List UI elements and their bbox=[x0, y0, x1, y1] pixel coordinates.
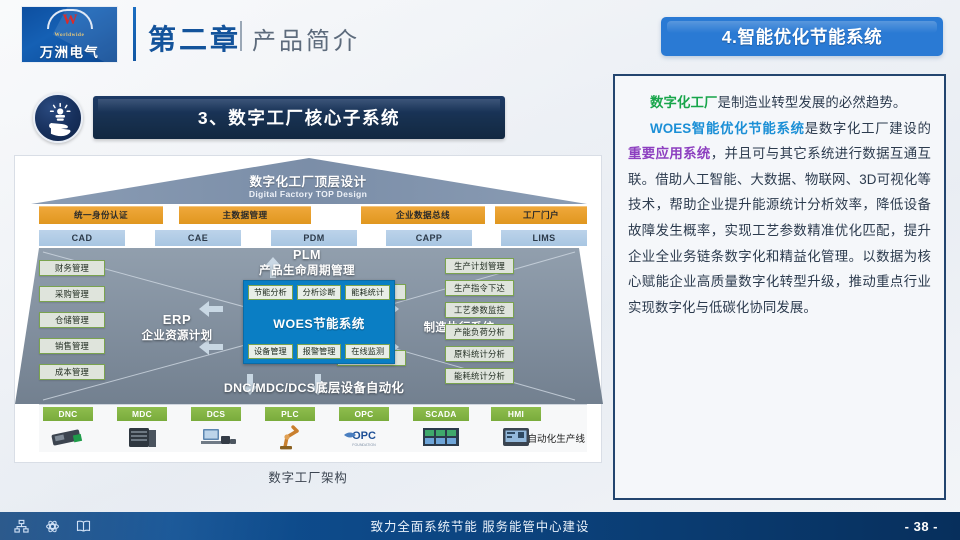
device-layer-strip: DNC MDC DCS PLC OPC SCADA HMI OPCFOUNDAT… bbox=[39, 404, 587, 452]
robot-arm-icon bbox=[265, 424, 315, 450]
plm-label-en: PLM bbox=[217, 248, 397, 262]
topic-badge: 4.智能优化节能系统 bbox=[661, 17, 943, 56]
diagram-middle-layer: 财务管理 采购管理 仓储管理 销售管理 成本管理 ERP 企业资源计划 PLM … bbox=[39, 250, 587, 402]
erp-module-item: 成本管理 bbox=[39, 364, 105, 380]
woes-function-item: 能耗统计 bbox=[345, 285, 390, 300]
erp-block: ERP 企业资源计划 bbox=[117, 312, 237, 343]
mes-function-item: 原料统计分析 bbox=[445, 346, 514, 362]
mes-function-item: 能耗统计分析 bbox=[445, 368, 514, 384]
woes-function-item: 节能分析 bbox=[248, 285, 293, 300]
logo-company-name: 万洲电气 bbox=[40, 41, 100, 61]
logo-w-letter: W bbox=[47, 11, 93, 29]
digital-factory-architecture-diagram: 数字化工厂顶层设计 Digital Factory TOP Design 统一身… bbox=[14, 155, 602, 463]
automation-line-label: 自动化生产线 bbox=[527, 431, 585, 445]
hand-idea-icon bbox=[33, 93, 83, 143]
paragraph2-mid: 是数字化工厂建设的 bbox=[805, 121, 931, 136]
plm-label-cn: 产品生命周期管理 bbox=[217, 262, 397, 278]
woes-bottom-row: 设备管理 报警管理 在线监测 bbox=[248, 344, 390, 359]
svg-text:FOUNDATION: FOUNDATION bbox=[352, 443, 376, 447]
top-layer-title-cn: 数字化工厂顶层设计 bbox=[15, 171, 601, 190]
page-number: - 38 - bbox=[905, 512, 938, 540]
plm-block: PLM 产品生命周期管理 bbox=[217, 248, 397, 278]
chapter-subtitle: 产品简介 bbox=[252, 21, 360, 56]
mes-function-item: 生产计划管理 bbox=[445, 258, 514, 274]
server-rack-icon bbox=[117, 424, 167, 450]
highlight-digital-factory: 数字化工厂 bbox=[650, 95, 717, 110]
svg-text:OPC: OPC bbox=[352, 430, 376, 442]
erp-module-item: 销售管理 bbox=[39, 338, 105, 354]
paragraph1-rest: 是制造业转型发展的必然趋势。 bbox=[717, 95, 906, 110]
platform-service-item: 统一身份认证 bbox=[39, 206, 163, 224]
device-tag: DCS bbox=[191, 407, 241, 421]
woes-function-item: 设备管理 bbox=[248, 344, 293, 359]
platform-service-item: 工厂门户 bbox=[495, 206, 587, 224]
paragraph2-rest: ，并且可与其它系统进行数据互通互联。借助人工智能、大数据、物联网、3D可视化等技… bbox=[628, 146, 931, 315]
workstation-icon bbox=[191, 424, 241, 450]
erp-label-cn: 企业资源计划 bbox=[117, 327, 237, 343]
description-text: 数字化工厂是制造业转型发展的必然趋势。 WOES智能优化节能系统是数字化工厂建设… bbox=[615, 76, 944, 330]
logo-subtitle-en: Worldwide bbox=[55, 32, 85, 38]
platform-service-item: 主数据管理 bbox=[179, 206, 311, 224]
woes-top-row: 节能分析 分析诊断 能耗统计 bbox=[248, 285, 390, 300]
top-layer-title-en: Digital Factory TOP Design bbox=[15, 189, 601, 199]
highlight-woes-system: WOES智能优化节能系统 bbox=[650, 121, 805, 136]
highlight-key-application: 重要应用系统 bbox=[628, 146, 711, 161]
mes-function-item: 生产指令下达 bbox=[445, 280, 514, 296]
engineering-tool-item: CAD bbox=[39, 230, 125, 246]
woes-function-item: 分析诊断 bbox=[297, 285, 342, 300]
erp-label-en: ERP bbox=[117, 312, 237, 327]
control-room-icon bbox=[413, 424, 469, 450]
slide-header: W Worldwide 万洲电气 第二章 产品简介 4.智能优化节能系统 bbox=[0, 0, 960, 72]
engineering-tool-item: PDM bbox=[271, 230, 357, 246]
company-logo: W Worldwide 万洲电气 bbox=[21, 6, 118, 63]
engineering-tool-item: LIMS bbox=[501, 230, 587, 246]
mes-function-item: 工艺参数监控 bbox=[445, 302, 514, 318]
device-tag: SCADA bbox=[413, 407, 469, 421]
footer-slogan: 致力全面系统节能 服务能管中心建设 bbox=[0, 512, 960, 540]
header-divider bbox=[133, 7, 136, 61]
slide-footer: 致力全面系统节能 服务能管中心建设 - 38 - bbox=[0, 512, 960, 540]
section-title-label: 3、数字工厂核心子系统 bbox=[198, 105, 400, 130]
platform-service-item: 企业数据总线 bbox=[361, 206, 485, 224]
description-panel: 数字化工厂是制造业转型发展的必然趋势。 WOES智能优化节能系统是数字化工厂建设… bbox=[613, 74, 946, 500]
device-tag: HMI bbox=[491, 407, 541, 421]
logo-emblem-icon: W bbox=[47, 9, 93, 31]
engineering-tool-item: CAPP bbox=[386, 230, 472, 246]
title-separator bbox=[240, 21, 242, 51]
engineering-tool-item: CAE bbox=[155, 230, 241, 246]
device-tag: OPC bbox=[339, 407, 389, 421]
woes-function-item: 在线监测 bbox=[345, 344, 390, 359]
device-tag: PLC bbox=[265, 407, 315, 421]
device-tag: DNC bbox=[43, 407, 93, 421]
woes-core-box: 节能分析 分析诊断 能耗统计 WOES节能系统 设备管理 报警管理 在线监测 bbox=[243, 280, 395, 364]
controller-box-icon bbox=[43, 424, 93, 450]
engineering-tools-row: CAD CAE PDM CAPP LIMS bbox=[39, 230, 587, 246]
bottom-layer-label: DNC/MDC/DCS底层设备自动化 bbox=[189, 378, 439, 396]
diagram-caption: 数字工厂架构 bbox=[14, 468, 602, 486]
opc-logo-icon: OPCFOUNDATION bbox=[339, 424, 389, 450]
section-title-bar: 3、数字工厂核心子系统 bbox=[93, 96, 505, 139]
erp-module-item: 仓储管理 bbox=[39, 312, 105, 328]
erp-module-item: 采购管理 bbox=[39, 286, 105, 302]
mes-function-item: 产能负荷分析 bbox=[445, 324, 514, 340]
device-tag: MDC bbox=[117, 407, 167, 421]
erp-module-item: 财务管理 bbox=[39, 260, 105, 276]
woes-title-label: WOES节能系统 bbox=[244, 314, 394, 332]
woes-function-item: 报警管理 bbox=[297, 344, 342, 359]
chapter-title: 第二章 bbox=[148, 18, 241, 58]
topic-badge-label: 4.智能优化节能系统 bbox=[722, 24, 883, 49]
platform-services-row: 统一身份认证 主数据管理 企业数据总线 工厂门户 bbox=[39, 206, 587, 224]
